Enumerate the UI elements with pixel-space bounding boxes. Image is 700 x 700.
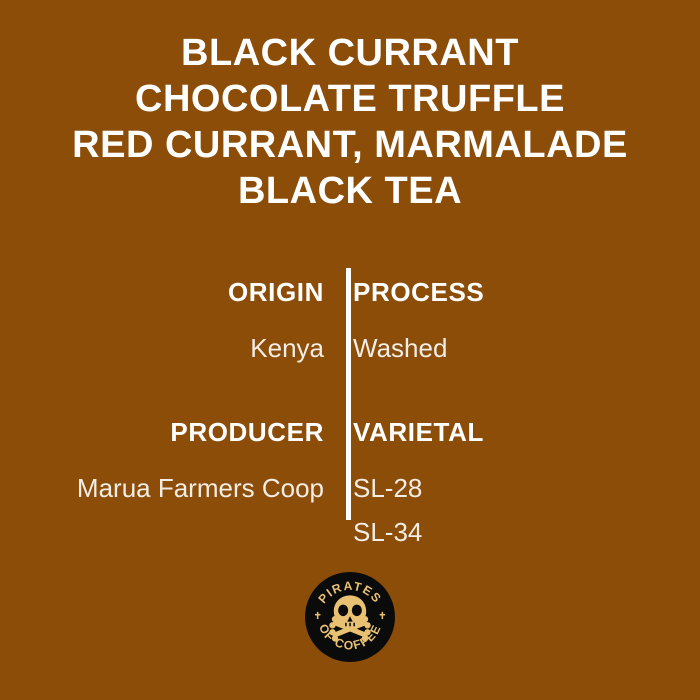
brand-logo: PIRATES OF COFFEE bbox=[305, 572, 395, 662]
spec-value-producer: Marua Farmers Coop bbox=[0, 466, 324, 510]
spec-cell-varietal: VARIETAL SL-28 SL-34 bbox=[324, 416, 700, 554]
spec-row-origin-process: ORIGIN Kenya PROCESS Washed bbox=[0, 276, 700, 370]
spec-row-producer-varietal: PRODUCER Marua Farmers Coop VARIETAL SL-… bbox=[0, 416, 700, 554]
coffee-label-card: BLACK CURRANT CHOCOLATE TRUFFLE RED CURR… bbox=[0, 0, 700, 700]
spec-label-producer: PRODUCER bbox=[0, 416, 324, 448]
spec-value-varietal-2: SL-34 bbox=[353, 510, 700, 554]
spec-cell-origin: ORIGIN Kenya bbox=[0, 276, 324, 370]
spec-value-varietal-1: SL-28 bbox=[353, 466, 700, 510]
spec-label-origin: ORIGIN bbox=[0, 276, 324, 308]
spec-grid: ORIGIN Kenya PROCESS Washed PRODUCER Mar… bbox=[0, 268, 700, 528]
spec-label-varietal: VARIETAL bbox=[353, 416, 700, 448]
spec-value-process: Washed bbox=[353, 326, 700, 370]
tasting-note-line-1: BLACK CURRANT bbox=[0, 30, 700, 76]
tasting-note-line-2: CHOCOLATE TRUFFLE bbox=[0, 76, 700, 122]
spec-label-process: PROCESS bbox=[353, 276, 700, 308]
tasting-note-line-3: RED CURRANT, MARMALADE bbox=[0, 122, 700, 168]
spec-cell-process: PROCESS Washed bbox=[324, 276, 700, 370]
tasting-note-line-4: BLACK TEA bbox=[0, 168, 700, 214]
tasting-notes: BLACK CURRANT CHOCOLATE TRUFFLE RED CURR… bbox=[0, 30, 700, 214]
spec-cell-producer: PRODUCER Marua Farmers Coop bbox=[0, 416, 324, 510]
spec-value-origin: Kenya bbox=[0, 326, 324, 370]
